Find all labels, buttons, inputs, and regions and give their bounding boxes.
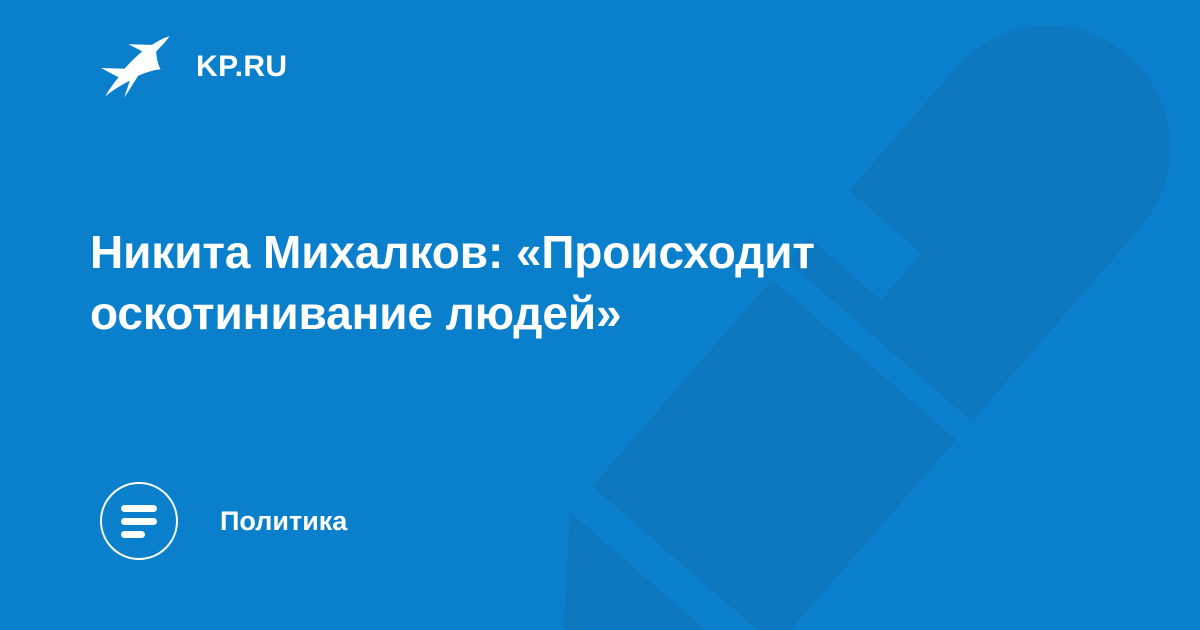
headline: Никита Михалков: «Происходит оскотиниван… [90,222,1030,344]
list-line-1 [121,505,157,512]
list-line-3 [121,531,145,538]
brand-name: KP.RU [196,52,287,82]
social-share-card: KP.RU Никита Михалков: «Происходит оскот… [0,0,1200,630]
category-tag[interactable]: Политика [100,482,347,560]
category-label: Политика [220,508,347,535]
list-lines-icon [100,482,178,560]
swallow-bird-icon [98,34,174,100]
list-line-2 [121,518,157,525]
brand-logo[interactable]: KP.RU [98,34,287,100]
